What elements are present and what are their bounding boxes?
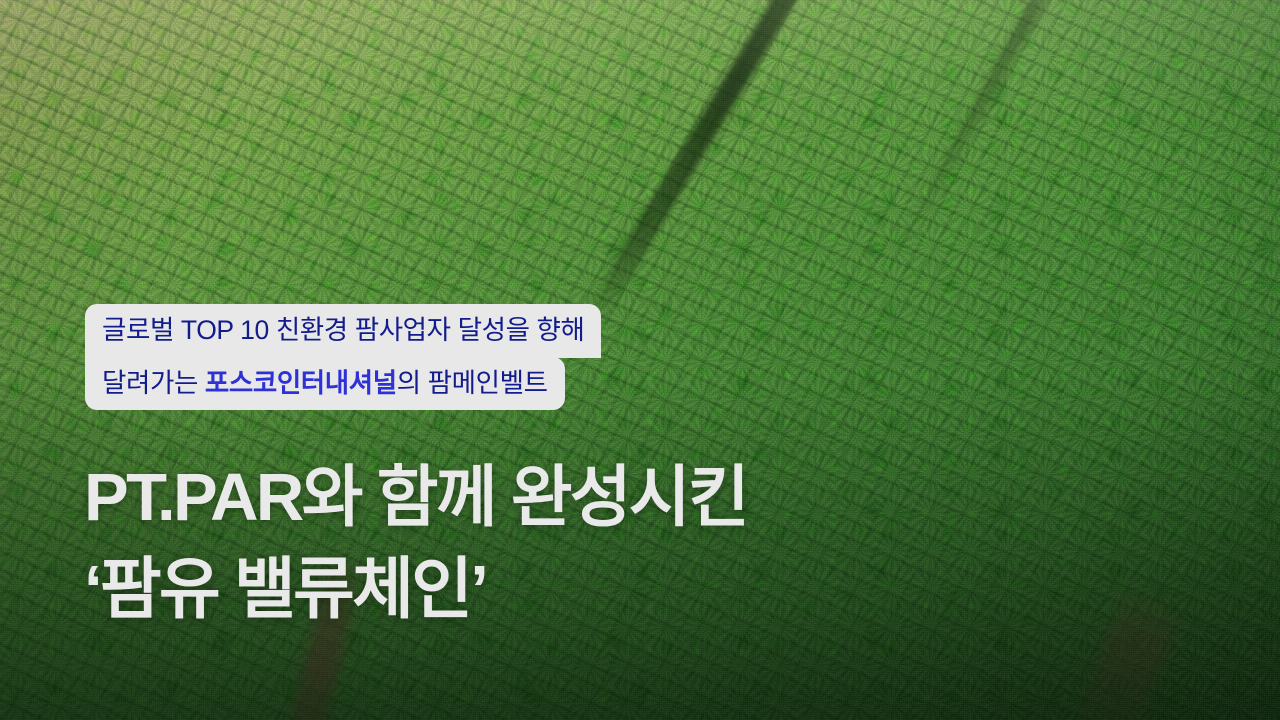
cover-image-canvas: 글로벌 TOP 10 친환경 팜사업자 달성을 향해 달려가는 포스코인터내셔널… <box>0 0 1280 720</box>
headline-block: PT.PAR와 함께 완성시킨 ‘팜유 밸류체인’ <box>84 452 747 637</box>
headline-line-1: PT.PAR와 함께 완성시킨 <box>84 452 747 544</box>
subtitle-line-2: 달려가는 포스코인터내셔널의 팜메인벨트 <box>85 357 565 411</box>
subtitle-line-2-suffix: 의 팜메인벨트 <box>397 368 548 398</box>
headline-line-2: ‘팜유 밸류체인’ <box>84 544 747 636</box>
cover-text-overlay: 글로벌 TOP 10 친환경 팜사업자 달성을 향해 달려가는 포스코인터내셔널… <box>0 0 1280 720</box>
subtitle-brand-name: 포스코인터내셔널 <box>205 368 397 398</box>
subtitle-line-2-prefix: 달려가는 <box>102 368 205 398</box>
subtitle-highlight-block: 글로벌 TOP 10 친환경 팜사업자 달성을 향해 달려가는 포스코인터내셔널… <box>85 304 845 410</box>
subtitle-line-1: 글로벌 TOP 10 친환경 팜사업자 달성을 향해 <box>85 304 601 358</box>
